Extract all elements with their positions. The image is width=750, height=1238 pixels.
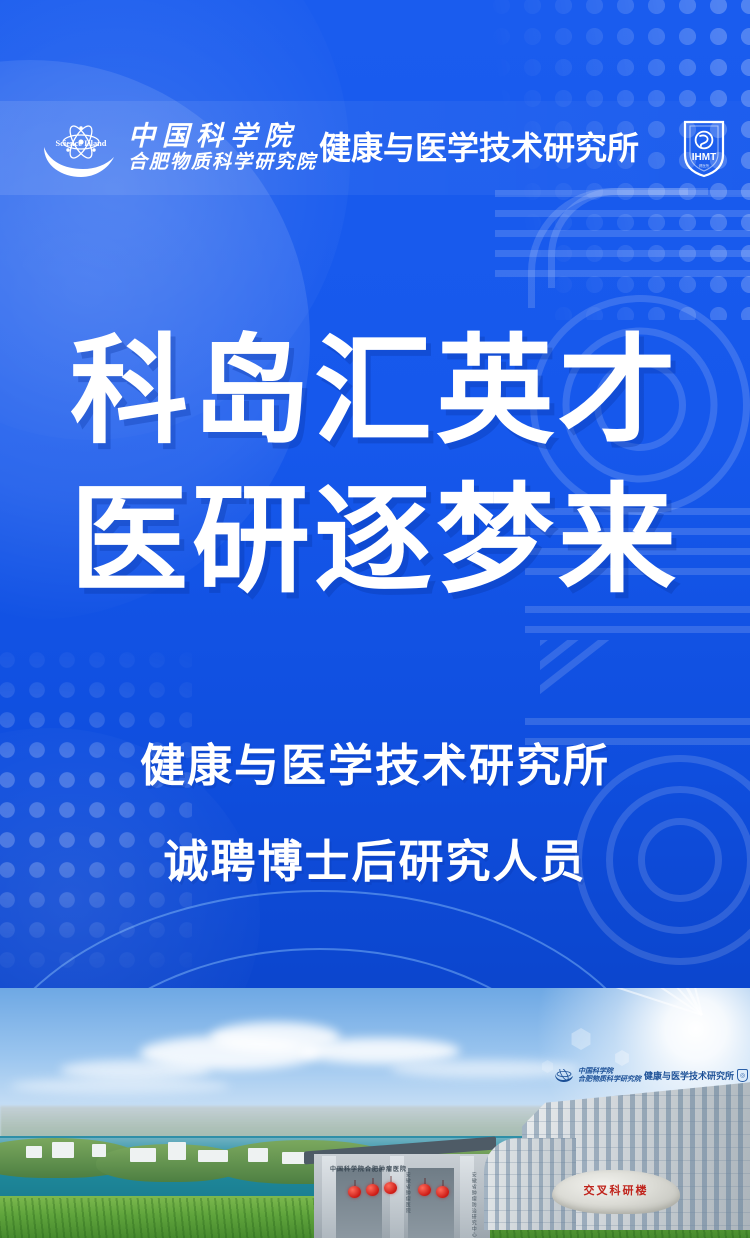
building-logo-icon xyxy=(553,1069,575,1083)
lantern-4 xyxy=(418,1184,431,1196)
org-line-2: 合肥物质科学研究院 xyxy=(128,152,317,174)
lantern-2 xyxy=(366,1184,379,1196)
lantern-3 xyxy=(384,1182,397,1194)
gate-vertical-sign-left: 安徽省肿瘤医院 xyxy=(404,1172,410,1214)
subtitle-line-2: 诚聘博士后研究人员 xyxy=(0,814,750,910)
headline-line-2: 医研逐梦来 xyxy=(0,467,750,616)
line-stripes-top-right xyxy=(490,190,750,300)
gate-opening-left xyxy=(336,1168,382,1238)
headline-block: 科岛汇英才 医研逐梦来 xyxy=(0,318,750,615)
header-band: Science Island 中国科学院 合肥物质科学研究院 健康与医学技术研究… xyxy=(0,101,750,195)
science-island-logo: Science Island xyxy=(38,117,124,179)
lantern-1 xyxy=(348,1186,361,1198)
building-org-line-2: 合肥物质科学研究院 xyxy=(578,1076,641,1084)
institute-name: 健康与医学技术研究所 xyxy=(319,132,639,164)
stone-marker-text: 交叉科研楼 xyxy=(584,1182,649,1198)
svg-text:Science Island: Science Island xyxy=(56,139,107,148)
gate-sign-text: 中国科学院合肥肿瘤医院 xyxy=(330,1164,407,1173)
campus-gate: 中国科学院合肥肿瘤医院 安徽省肿瘤医院 安徽省肿瘤防治研究中心 xyxy=(300,1138,500,1238)
org-line-1: 中国科学院 xyxy=(128,122,317,150)
gate-vertical-sign-right: 安徽省肿瘤防治研究中心 xyxy=(470,1172,476,1238)
subtitle-block: 健康与医学技术研究所 诚聘博士后研究人员 xyxy=(0,718,750,911)
building-badge-icon: ◎ xyxy=(737,1069,748,1082)
stone-marker: 交叉科研楼 xyxy=(552,1170,680,1214)
svg-text:IHMT: IHMT xyxy=(692,152,716,163)
parent-org-calligraphy: 中国科学院 合肥物质科学研究院 xyxy=(128,122,317,173)
recruitment-poster: Science Island 中国科学院 合肥物质科学研究院 健康与医学技术研究… xyxy=(0,0,750,1238)
building-institute-name: 健康与医学技术研究所 xyxy=(644,1069,734,1082)
headline-line-1: 科岛汇英才 xyxy=(0,318,750,467)
ihmt-badge: IHMT 健医所 xyxy=(678,117,730,179)
rounded-corner-line-inner xyxy=(548,188,688,288)
rounded-corner-line-outer xyxy=(528,188,708,308)
institute-building: 中国科学院 合肥物质科学研究院 健康与医学技术研究所 ◎ 交叉科研楼 xyxy=(484,1070,750,1230)
building-signage: 中国科学院 合肥物质科学研究院 健康与医学技术研究所 ◎ xyxy=(553,1068,748,1083)
svg-text:健医所: 健医所 xyxy=(699,163,710,168)
subtitle-line-1: 健康与医学技术研究所 xyxy=(0,718,750,814)
gate-opening-right xyxy=(408,1168,454,1238)
campus-photo: 中国科学院合肥肿瘤医院 安徽省肿瘤医院 安徽省肿瘤防治研究中心 xyxy=(0,988,750,1238)
lantern-5 xyxy=(436,1186,449,1198)
